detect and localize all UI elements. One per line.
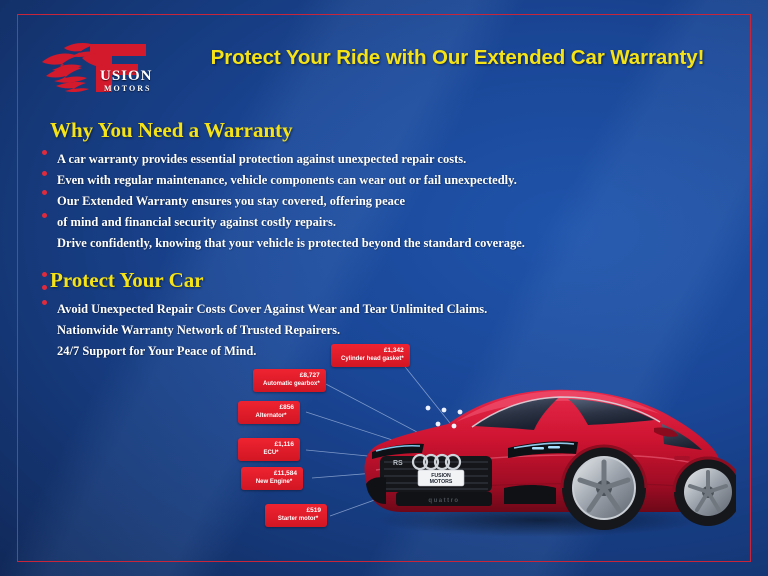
- bullet-dot-icon: [42, 150, 47, 155]
- callout-price: £1,342: [341, 347, 404, 355]
- callout-price: £519: [275, 507, 321, 515]
- callout-part: ECU*: [248, 449, 294, 457]
- callout-part: Alternator*: [248, 412, 294, 420]
- logo-text-motors: MOTORS: [104, 84, 151, 93]
- price-callout: £856 Alternator*: [238, 401, 300, 424]
- bullet-item: Drive confidently, knowing that your veh…: [40, 233, 660, 254]
- callout-part: Cylinder head gasket*: [341, 355, 404, 363]
- callout-part: Starter motor*: [275, 515, 321, 523]
- bullet-item: Even with regular maintenance, vehicle c…: [40, 170, 660, 191]
- svg-text:RS: RS: [393, 460, 403, 467]
- bullet-item: Our Extended Warranty ensures you stay c…: [40, 191, 660, 212]
- bullet-item: Avoid Unexpected Repair Costs Cover Agai…: [40, 299, 660, 320]
- bullet-dot-icon: [42, 190, 47, 195]
- bullet-text: Our Extended Warranty ensures you stay c…: [57, 194, 405, 208]
- poster-slide: USION MOTORS Protect Your Ride with Our …: [0, 0, 768, 576]
- section-why-you-need-a-warranty: Why You Need a Warranty A car warranty p…: [40, 118, 660, 254]
- price-callout: £8,727 Automatic gearbox*: [253, 369, 326, 392]
- bullet-item: A car warranty provides essential protec…: [40, 149, 660, 170]
- bullet-dot-icon: [42, 285, 47, 290]
- section-heading: Why You Need a Warranty: [50, 118, 660, 143]
- bullet-text: Even with regular maintenance, vehicle c…: [57, 173, 517, 187]
- bullet-dot-icon: [42, 213, 47, 218]
- callout-price: £1,116: [248, 441, 294, 449]
- bullet-dot-icon: [42, 171, 47, 176]
- price-callout: £1,342 Cylinder head gasket*: [331, 344, 410, 367]
- callout-part: New Engine*: [251, 478, 297, 486]
- bullet-dot-icon: [42, 300, 47, 305]
- plate-text-line2: MOTORS: [430, 479, 453, 485]
- callout-price: £11,584: [251, 470, 297, 478]
- bullet-text: Drive confidently, knowing that your veh…: [57, 236, 525, 250]
- bullet-dot-icon: [42, 272, 47, 277]
- callout-part: Automatic gearbox*: [263, 380, 320, 388]
- svg-text:quattro: quattro: [428, 498, 459, 504]
- fusion-motors-logo: USION MOTORS: [38, 34, 170, 96]
- callout-price: £856: [248, 404, 294, 412]
- callout-price: £8,727: [263, 372, 320, 380]
- bullet-text: A car warranty provides essential protec…: [57, 152, 466, 166]
- bullet-list: A car warranty provides essential protec…: [40, 149, 660, 254]
- poster-title: Protect Your Ride with Our Extended Car …: [175, 46, 740, 70]
- bullet-text: of mind and financial security against c…: [57, 215, 336, 229]
- logo-text-usion: USION: [100, 68, 153, 85]
- bullet-text: Avoid Unexpected Repair Costs Cover Agai…: [57, 302, 487, 316]
- section-heading: Protect Your Car: [50, 268, 660, 293]
- poster-header: USION MOTORS Protect Your Ride with Our …: [0, 28, 768, 98]
- price-callout: £519 Starter motor*: [265, 504, 327, 527]
- price-callout: £11,584 New Engine*: [241, 467, 303, 490]
- red-audi-rs7-illustration: RS FUSION MOTORS quattro: [336, 352, 736, 552]
- car-image: RS FUSION MOTORS quattro: [336, 352, 736, 552]
- price-callout: £1,116 ECU*: [238, 438, 300, 461]
- bullet-item: of mind and financial security against c…: [40, 212, 660, 233]
